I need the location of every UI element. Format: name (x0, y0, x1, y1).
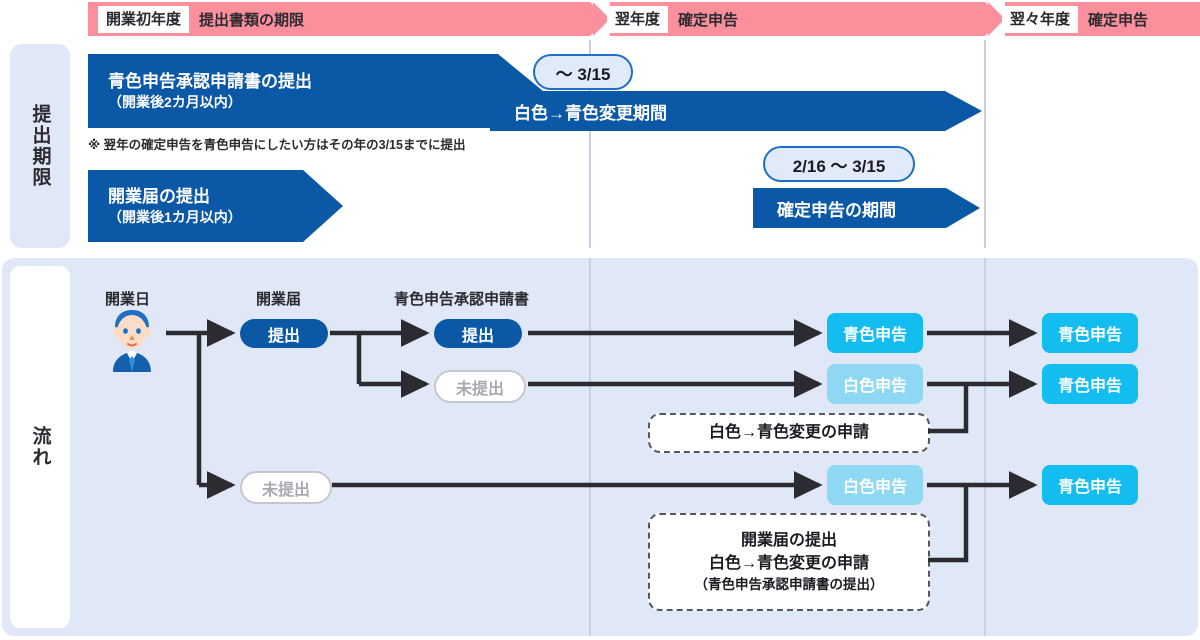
arrow-bar-label: 確定申告の期間 (753, 196, 946, 221)
arrow-bar-kaigyou-notification: 開業届の提出 （開業後1カ月以内） (88, 170, 343, 242)
arrow-bar-aoiro-application: 青色申告承認申請書の提出 （開業後2カ月以内） (88, 54, 543, 128)
dashed-box-line: 白色→青色変更の申請 (709, 421, 869, 444)
flow-section-label-box: 流れ (10, 266, 70, 628)
dashed-box-line-1: 開業届の提出 (741, 529, 837, 552)
arrow-head-icon (946, 188, 980, 228)
result-box-row2-year3[interactable]: 青色申告 (1042, 364, 1138, 404)
year-divider-1-flow (589, 258, 591, 636)
flow-heading-aoiro: 青色申告承認申請書 (394, 288, 529, 309)
dashed-box-line-2: 白色→青色変更の申請 (709, 552, 869, 575)
deadline-note: ※ 翌年の確定申告を青色申告にしたい方はその年の3/15までに提出 (88, 134, 465, 153)
year-divider-2-flow (984, 258, 986, 636)
flow-heading-kaigyou: 開業届 (256, 288, 301, 309)
arrow-bar-change-period: 白色→青色変更期間 (490, 91, 982, 131)
flow-section-label: 流れ (10, 266, 70, 628)
timeline-segment-year1: 開業初年度 提出書類の期限 (88, 2, 590, 36)
businessman-avatar (103, 306, 161, 372)
arrow-head-icon (945, 91, 982, 131)
arrow-bar-title: 青色申告承認申請書の提出 (88, 71, 498, 92)
timeline-year-label: 翌々年度 (1002, 6, 1078, 33)
result-box-row2-year2[interactable]: 白色申告 (827, 364, 923, 404)
arrow-bar-title: 開業届の提出 (88, 186, 303, 207)
pill-aoiro-unfiled[interactable]: 未提出 (434, 370, 526, 403)
arrow-bar-kakutei-period: 確定申告の期間 (753, 188, 980, 228)
arrow-head-icon (303, 170, 343, 242)
timeline-year-label: 翌年度 (607, 6, 668, 33)
timeline-section-label: 確定申告 (678, 9, 738, 30)
arrow-bar-subtitle: （開業後2カ月以内） (88, 93, 498, 111)
arrow-bar-subtitle: （開業後1カ月以内） (88, 208, 303, 226)
dashed-box-bottom-application: 開業届の提出 白色→青色変更の申請 （青色申告承認申請書の提出） (648, 513, 930, 611)
arrow-bar-label: 白色→青色変更期間 (490, 99, 945, 124)
result-box-row1-year3[interactable]: 青色申告 (1042, 313, 1138, 353)
timeline-ribbon: 開業初年度 提出書類の期限 翌年度 確定申告 翌々年度 確定申告 (88, 2, 1200, 36)
year-divider-2 (984, 40, 986, 248)
dashed-box-line-3: （青色申告承認申請書の提出） (695, 575, 884, 595)
result-box-row1-year2[interactable]: 青色申告 (827, 313, 923, 353)
result-box-row3-year2[interactable]: 白色申告 (827, 465, 923, 505)
deadline-section-label: 提出期限 (10, 44, 70, 248)
date-pill-change-deadline: ～ 3/15 (533, 54, 633, 90)
result-box-row3-year3[interactable]: 青色申告 (1042, 465, 1138, 505)
timeline-year-label: 開業初年度 (98, 6, 189, 33)
deadline-section-panel: 提出期限 (10, 44, 70, 248)
flow-section-panel: 流れ (2, 258, 1198, 636)
timeline-segment-year2: 翌年度 確定申告 (593, 2, 985, 36)
date-pill-kakutei-period: 2/16 ～ 3/15 (763, 146, 915, 182)
timeline-section-label: 確定申告 (1088, 9, 1148, 30)
pill-kaigyou-filed[interactable]: 提出 (240, 319, 328, 348)
timeline-segment-year3: 翌々年度 確定申告 (988, 2, 1200, 36)
timeline-section-label: 提出書類の期限 (199, 9, 304, 30)
pill-aoiro-filed[interactable]: 提出 (434, 319, 522, 348)
dashed-box-change-application: 白色→青色変更の申請 (648, 413, 930, 453)
pill-kaigyou-unfiled[interactable]: 未提出 (240, 471, 332, 504)
